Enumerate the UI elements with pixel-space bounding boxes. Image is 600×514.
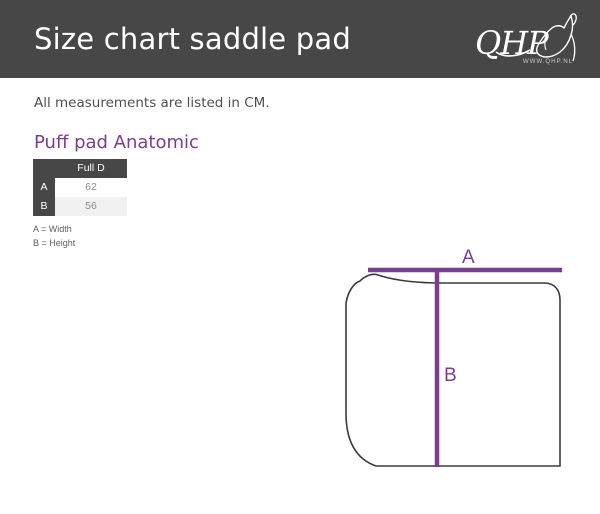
table-row-label-a: A [33, 178, 55, 197]
logo-url-text: WWW.QHP.NL [523, 58, 573, 65]
saddle-pad-outline-svg [330, 245, 590, 500]
qhp-logo: QHP WWW.QHP.NL [474, 12, 582, 68]
table-row: A 62 [33, 178, 127, 197]
table-column-header-full-d: Full D [55, 159, 127, 178]
dimension-label-a: A [462, 247, 475, 269]
measurement-legend: A = Width B = Height [33, 222, 75, 250]
measurements-note: All measurements are listed in CM. [34, 95, 270, 111]
table-row: B 56 [33, 197, 127, 216]
table-row-label-b: B [33, 197, 55, 216]
page-header: Size chart saddle pad QHP WWW.QHP.NL [0, 0, 600, 78]
table-corner-cell [33, 159, 55, 178]
table-cell-a-full-d: 62 [55, 178, 127, 197]
table-cell-b-full-d: 56 [55, 197, 127, 216]
legend-item-b: B = Height [33, 236, 75, 250]
page-title: Size chart saddle pad [34, 22, 351, 56]
legend-item-a: A = Width [33, 222, 75, 236]
size-chart-table: Full D A 62 B 56 [33, 159, 127, 216]
table-header-row: Full D [33, 159, 127, 178]
saddle-pad-diagram: A B [330, 245, 590, 500]
product-name-heading: Puff pad Anatomic [34, 132, 199, 153]
dimension-label-b: B [444, 365, 457, 387]
